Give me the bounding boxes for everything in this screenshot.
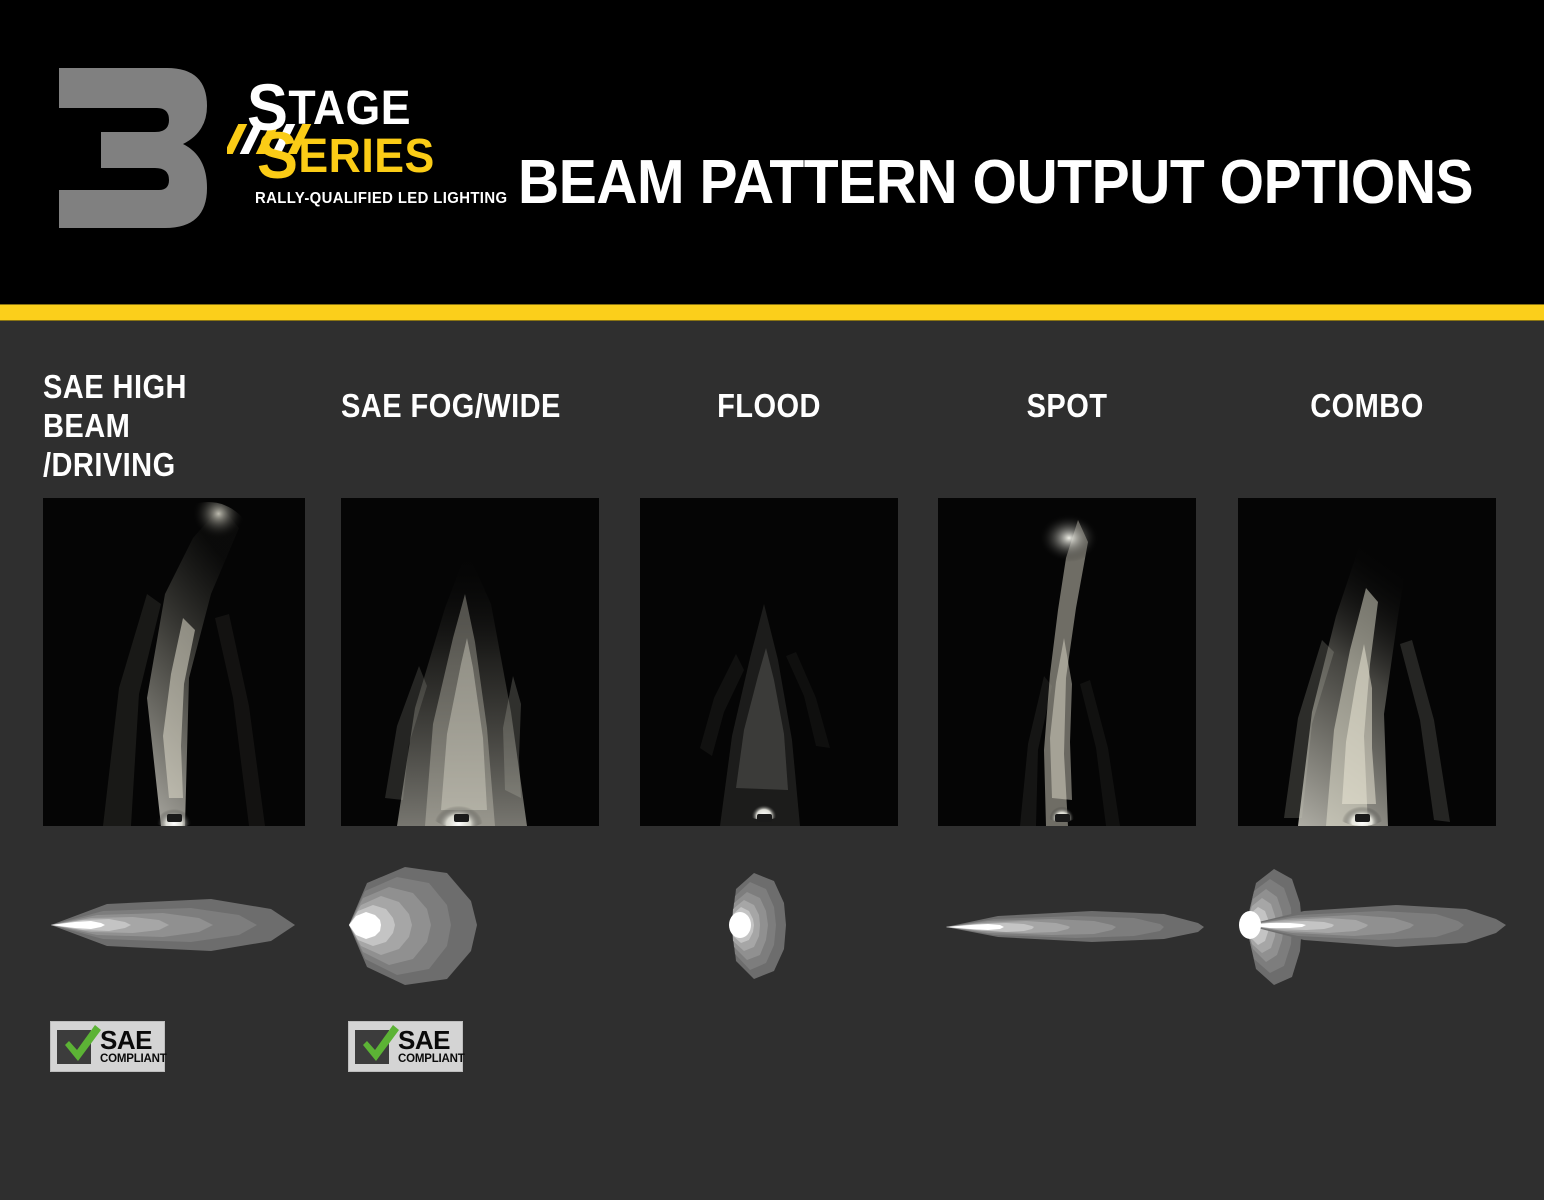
sae-compliant-badge: SAE COMPLIANT bbox=[348, 1021, 463, 1072]
badge-subtitle: COMPLIANT bbox=[100, 1054, 167, 1066]
column-heading: COMBO bbox=[1253, 386, 1480, 425]
column-heading-line1: SAE FOG/WIDE bbox=[341, 386, 568, 425]
beam-photo-spot bbox=[938, 498, 1196, 826]
column-heading: SPOT bbox=[953, 386, 1180, 425]
logo-stage-rest: TAGE bbox=[288, 82, 411, 135]
logo-word-series: SERIES bbox=[257, 130, 435, 182]
yellow-divider bbox=[0, 304, 1544, 321]
badge-title: SAE bbox=[398, 1027, 465, 1053]
column-heading-line2: /DRIVING bbox=[43, 445, 270, 484]
green-check-icon bbox=[59, 1023, 105, 1067]
logo-wordmark: STAGE SERIES RALLY-QUALIFIED LED LIGHTIN… bbox=[183, 82, 483, 232]
beam-diagram-flood bbox=[630, 861, 920, 991]
badge-text: SAE COMPLIANT bbox=[100, 1027, 167, 1066]
beam-photo-sae-high-beam-driving bbox=[43, 498, 305, 826]
column-heading: SAE HIGH BEAM /DRIVING bbox=[43, 367, 270, 484]
beam-diagram-sae-high-beam-driving bbox=[33, 861, 323, 991]
page-title: BEAM PATTERN OUTPUT OPTIONS bbox=[518, 152, 1473, 214]
column-heading-line1: SAE HIGH BEAM bbox=[43, 367, 270, 445]
badge-title: SAE bbox=[100, 1027, 167, 1053]
badge-subtitle: COMPLIANT bbox=[398, 1054, 465, 1066]
beam-photo-sae-fog-wide bbox=[341, 498, 599, 826]
beam-diagram-spot bbox=[928, 861, 1218, 991]
beam-photo-combo bbox=[1238, 498, 1496, 826]
beam-photo-flood bbox=[640, 498, 898, 826]
column-heading: FLOOD bbox=[655, 386, 882, 425]
column-heading-line1: FLOOD bbox=[655, 386, 882, 425]
checkbox-square bbox=[57, 1030, 91, 1064]
logo-series-cap: S bbox=[257, 118, 298, 192]
content-area: SAE HIGH BEAM /DRIVING bbox=[0, 321, 1544, 1200]
beam-diagram-combo bbox=[1228, 861, 1528, 991]
column-heading-line1: SPOT bbox=[953, 386, 1180, 425]
green-check-icon bbox=[357, 1023, 403, 1067]
column-heading-line1: COMBO bbox=[1253, 386, 1480, 425]
column-heading: SAE FOG/WIDE bbox=[341, 386, 568, 425]
badge-text: SAE COMPLIANT bbox=[398, 1027, 465, 1066]
checkbox-square bbox=[355, 1030, 389, 1064]
logo-tagline: RALLY-QUALIFIED LED LIGHTING bbox=[255, 190, 507, 208]
sae-compliant-badge: SAE COMPLIANT bbox=[50, 1021, 165, 1072]
beam-pattern-infographic: STAGE SERIES RALLY-QUALIFIED LED LIGHTIN… bbox=[0, 0, 1544, 1200]
header-bar: STAGE SERIES RALLY-QUALIFIED LED LIGHTIN… bbox=[0, 0, 1544, 304]
beam-diagram-sae-fog-wide bbox=[331, 861, 621, 991]
stage-series-logo: STAGE SERIES RALLY-QUALIFIED LED LIGHTIN… bbox=[55, 62, 475, 234]
logo-series-rest: ERIES bbox=[298, 130, 434, 183]
